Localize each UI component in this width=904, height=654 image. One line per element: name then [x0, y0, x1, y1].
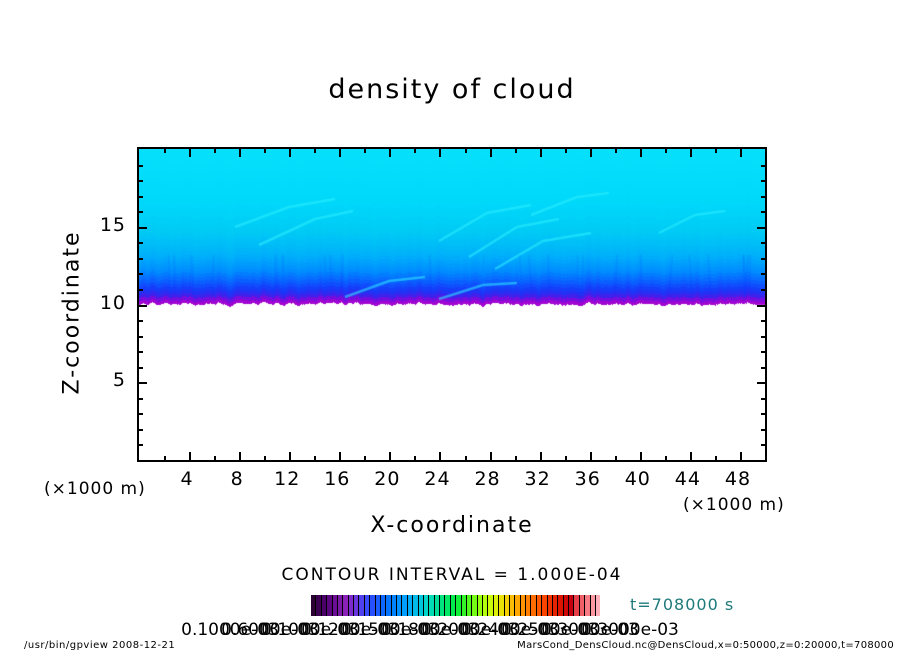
y-tick-right: [761, 165, 766, 167]
x-tick-label: 32: [525, 468, 551, 490]
y-tick-right: [761, 320, 766, 322]
y-tick-right: [761, 413, 766, 415]
x-tick-top: [540, 148, 542, 157]
x-tick: [214, 456, 216, 461]
y-tick: [138, 289, 143, 291]
x-tick-top: [590, 148, 592, 157]
x-tick-label: 28: [474, 468, 500, 490]
y-tick-right: [761, 351, 766, 353]
x-tick-top: [189, 148, 191, 157]
x-tick-top: [690, 148, 692, 157]
y-tick-right: [757, 227, 766, 229]
y-tick-right: [761, 180, 766, 182]
x-tick: [289, 452, 291, 461]
x-tick: [540, 452, 542, 461]
x-tick-top: [665, 148, 667, 153]
plot-frame: [137, 147, 767, 462]
y-tick-right: [761, 258, 766, 260]
colorbar-band: [596, 595, 600, 616]
y-tick: [138, 336, 143, 338]
colorbar-tick-labels: 0.1000e-030.6000e-030.1000e-030.1200e-03…: [230, 620, 690, 640]
y-tick: [138, 429, 143, 431]
x-tick-label: 20: [374, 468, 400, 490]
x-tick-label: 24: [424, 468, 450, 490]
x-tick: [314, 456, 316, 461]
contour-interval-label: CONTOUR INTERVAL = 1.000E-04: [0, 565, 904, 585]
x-unit-right: (×1000 m): [683, 495, 785, 515]
x-tick: [439, 452, 441, 461]
x-tick-top: [640, 148, 642, 157]
x-tick: [590, 452, 592, 461]
y-tick-right: [761, 273, 766, 275]
y-tick: [138, 180, 143, 182]
y-tick: [138, 196, 143, 198]
y-tick-right: [761, 429, 766, 431]
x-tick-top: [339, 148, 341, 157]
x-tick-top: [214, 148, 216, 153]
y-tick: [138, 273, 143, 275]
y-tick-right: [761, 367, 766, 369]
x-tick-top: [389, 148, 391, 157]
x-tick: [339, 452, 341, 461]
x-tick: [414, 456, 416, 461]
y-tick: [138, 398, 143, 400]
x-tick: [364, 456, 366, 461]
x-tick: [490, 452, 492, 461]
x-tick-top: [615, 148, 617, 153]
x-tick-top: [289, 148, 291, 157]
page-title: density of cloud: [0, 74, 904, 105]
y-tick: [138, 242, 143, 244]
x-tick: [565, 456, 567, 461]
x-tick: [189, 452, 191, 461]
x-tick-top: [414, 148, 416, 153]
y-tick: [138, 211, 143, 213]
x-tick-top: [164, 148, 166, 153]
y-tick: [138, 227, 147, 229]
x-tick: [715, 456, 717, 461]
y-tick: [138, 320, 143, 322]
x-tick-top: [515, 148, 517, 153]
x-tick-top: [715, 148, 717, 153]
x-tick-top: [740, 148, 742, 157]
x-tick-label: 4: [181, 468, 194, 490]
x-tick: [164, 456, 166, 461]
x-tick-top: [465, 148, 467, 153]
y-tick: [138, 165, 143, 167]
x-tick-label: 16: [324, 468, 350, 490]
y-tick-right: [761, 444, 766, 446]
x-tick: [465, 456, 467, 461]
contour-field: [139, 149, 765, 460]
x-tick-top: [565, 148, 567, 153]
x-tick: [690, 452, 692, 461]
x-tick: [389, 452, 391, 461]
y-tick-right: [761, 196, 766, 198]
x-tick-label: 8: [231, 468, 244, 490]
colorbar-tick-label: 0.3000e-03: [581, 620, 679, 640]
y-tick-right: [757, 382, 766, 384]
y-tick: [138, 444, 143, 446]
x-tick: [515, 456, 517, 461]
x-tick: [665, 456, 667, 461]
x-tick-top: [439, 148, 441, 157]
y-tick: [138, 305, 147, 307]
y-tick-label: 5: [113, 369, 126, 391]
y-tick: [138, 258, 143, 260]
x-tick-label: 48: [725, 468, 751, 490]
y-tick-right: [761, 242, 766, 244]
y-tick-right: [761, 336, 766, 338]
y-tick-label: 15: [100, 214, 126, 236]
x-tick-top: [264, 148, 266, 153]
x-unit-left: (×1000 m): [44, 479, 146, 499]
y-tick-right: [757, 305, 766, 307]
y-tick-label: 10: [100, 292, 126, 314]
y-tick-right: [761, 211, 766, 213]
x-tick-label: 12: [274, 468, 300, 490]
x-tick: [615, 456, 617, 461]
x-tick-top: [490, 148, 492, 157]
y-tick-right: [761, 289, 766, 291]
x-tick: [264, 456, 266, 461]
x-tick-label: 40: [625, 468, 651, 490]
footer-command: /usr/bin/gpview 2008-12-21: [24, 640, 175, 651]
x-tick: [239, 452, 241, 461]
colorbar: [311, 595, 600, 616]
x-tick: [740, 452, 742, 461]
x-tick: [640, 452, 642, 461]
time-annotation: t=708000 s: [630, 595, 734, 614]
y-tick: [138, 367, 143, 369]
x-tick-top: [239, 148, 241, 157]
x-tick-label: 44: [675, 468, 701, 490]
y-tick: [138, 413, 143, 415]
x-tick-label: 36: [575, 468, 601, 490]
footer-dataset: MarsCond_DensCloud.nc@DensCloud,x=0:5000…: [517, 640, 894, 651]
x-tick-top: [314, 148, 316, 153]
y-tick: [138, 351, 143, 353]
y-tick-right: [761, 398, 766, 400]
y-axis-title: Z-coordinate: [60, 213, 85, 413]
y-tick: [138, 382, 147, 384]
x-axis-title: X-coordinate: [0, 513, 904, 538]
x-tick-top: [364, 148, 366, 153]
